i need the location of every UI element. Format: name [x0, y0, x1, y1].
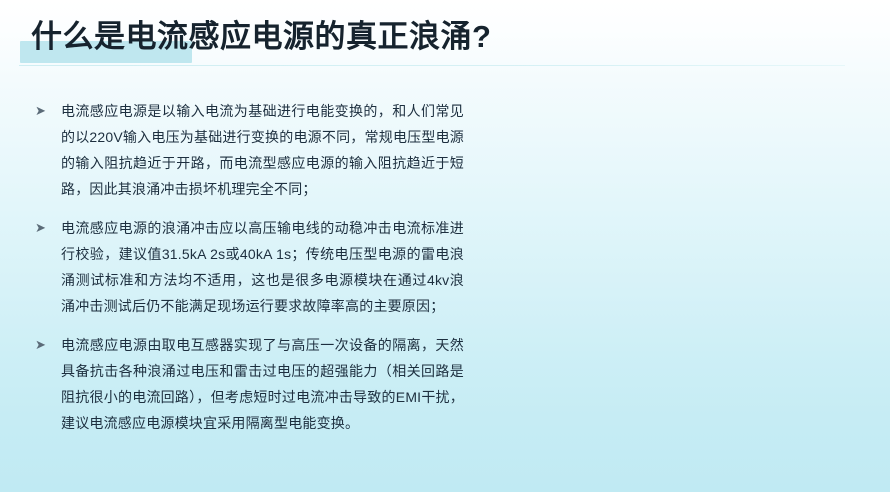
presentation-slide: 什么是电流感应电源的真正浪涌? ➤ 电流感应电源是以输入电流为基础进行电能变换的… — [0, 0, 890, 492]
list-item-text: 电流感应电源由取电互感器实现了与高压一次设备的隔离，天然具备抗击各种浪涌过电压和… — [61, 332, 464, 436]
page-title: 什么是电流感应电源的真正浪涌? — [31, 19, 491, 55]
list-item: ➤ 电流感应电源由取电互感器实现了与高压一次设备的隔离，天然具备抗击各种浪涌过电… — [34, 332, 464, 436]
arrow-bullet-icon: ➤ — [34, 98, 61, 124]
slide-title-block: 什么是电流感应电源的真正浪涌? — [0, 0, 890, 70]
list-item-text: 电流感应电源的浪涌冲击应以高压输电线的动稳冲击电流标准进行校验，建议值31.5k… — [61, 215, 464, 319]
arrow-bullet-icon: ➤ — [34, 332, 61, 358]
list-item: ➤ 电流感应电源是以输入电流为基础进行电能变换的，和人们常见的以220V输入电压… — [34, 98, 464, 202]
title-divider — [19, 65, 845, 66]
list-item-text: 电流感应电源是以输入电流为基础进行电能变换的，和人们常见的以220V输入电压为基… — [61, 98, 464, 202]
arrow-bullet-icon: ➤ — [34, 215, 61, 241]
list-item: ➤ 电流感应电源的浪涌冲击应以高压输电线的动稳冲击电流标准进行校验，建议值31.… — [34, 215, 464, 319]
bullet-list: ➤ 电流感应电源是以输入电流为基础进行电能变换的，和人们常见的以220V输入电压… — [34, 98, 464, 449]
